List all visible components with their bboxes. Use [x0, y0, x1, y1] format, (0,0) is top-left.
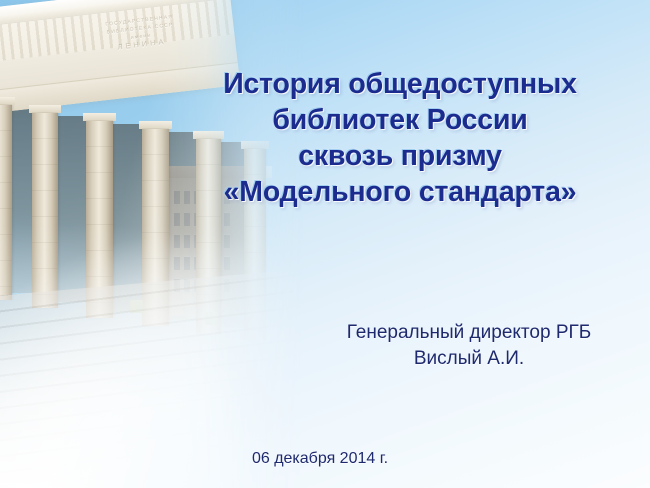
- presentation-slide: ГОСУДАРСТВЕННАЯ БИБЛИОТЕКА СССР имени ЛЕ…: [0, 0, 650, 488]
- presenter-subtitle: Генеральный директор РГБ Вислый А.И.: [290, 320, 648, 372]
- slide-date: 06 декабря 2014 г.: [140, 448, 500, 470]
- slide-title: История общедоступных библиотек России с…: [150, 66, 650, 210]
